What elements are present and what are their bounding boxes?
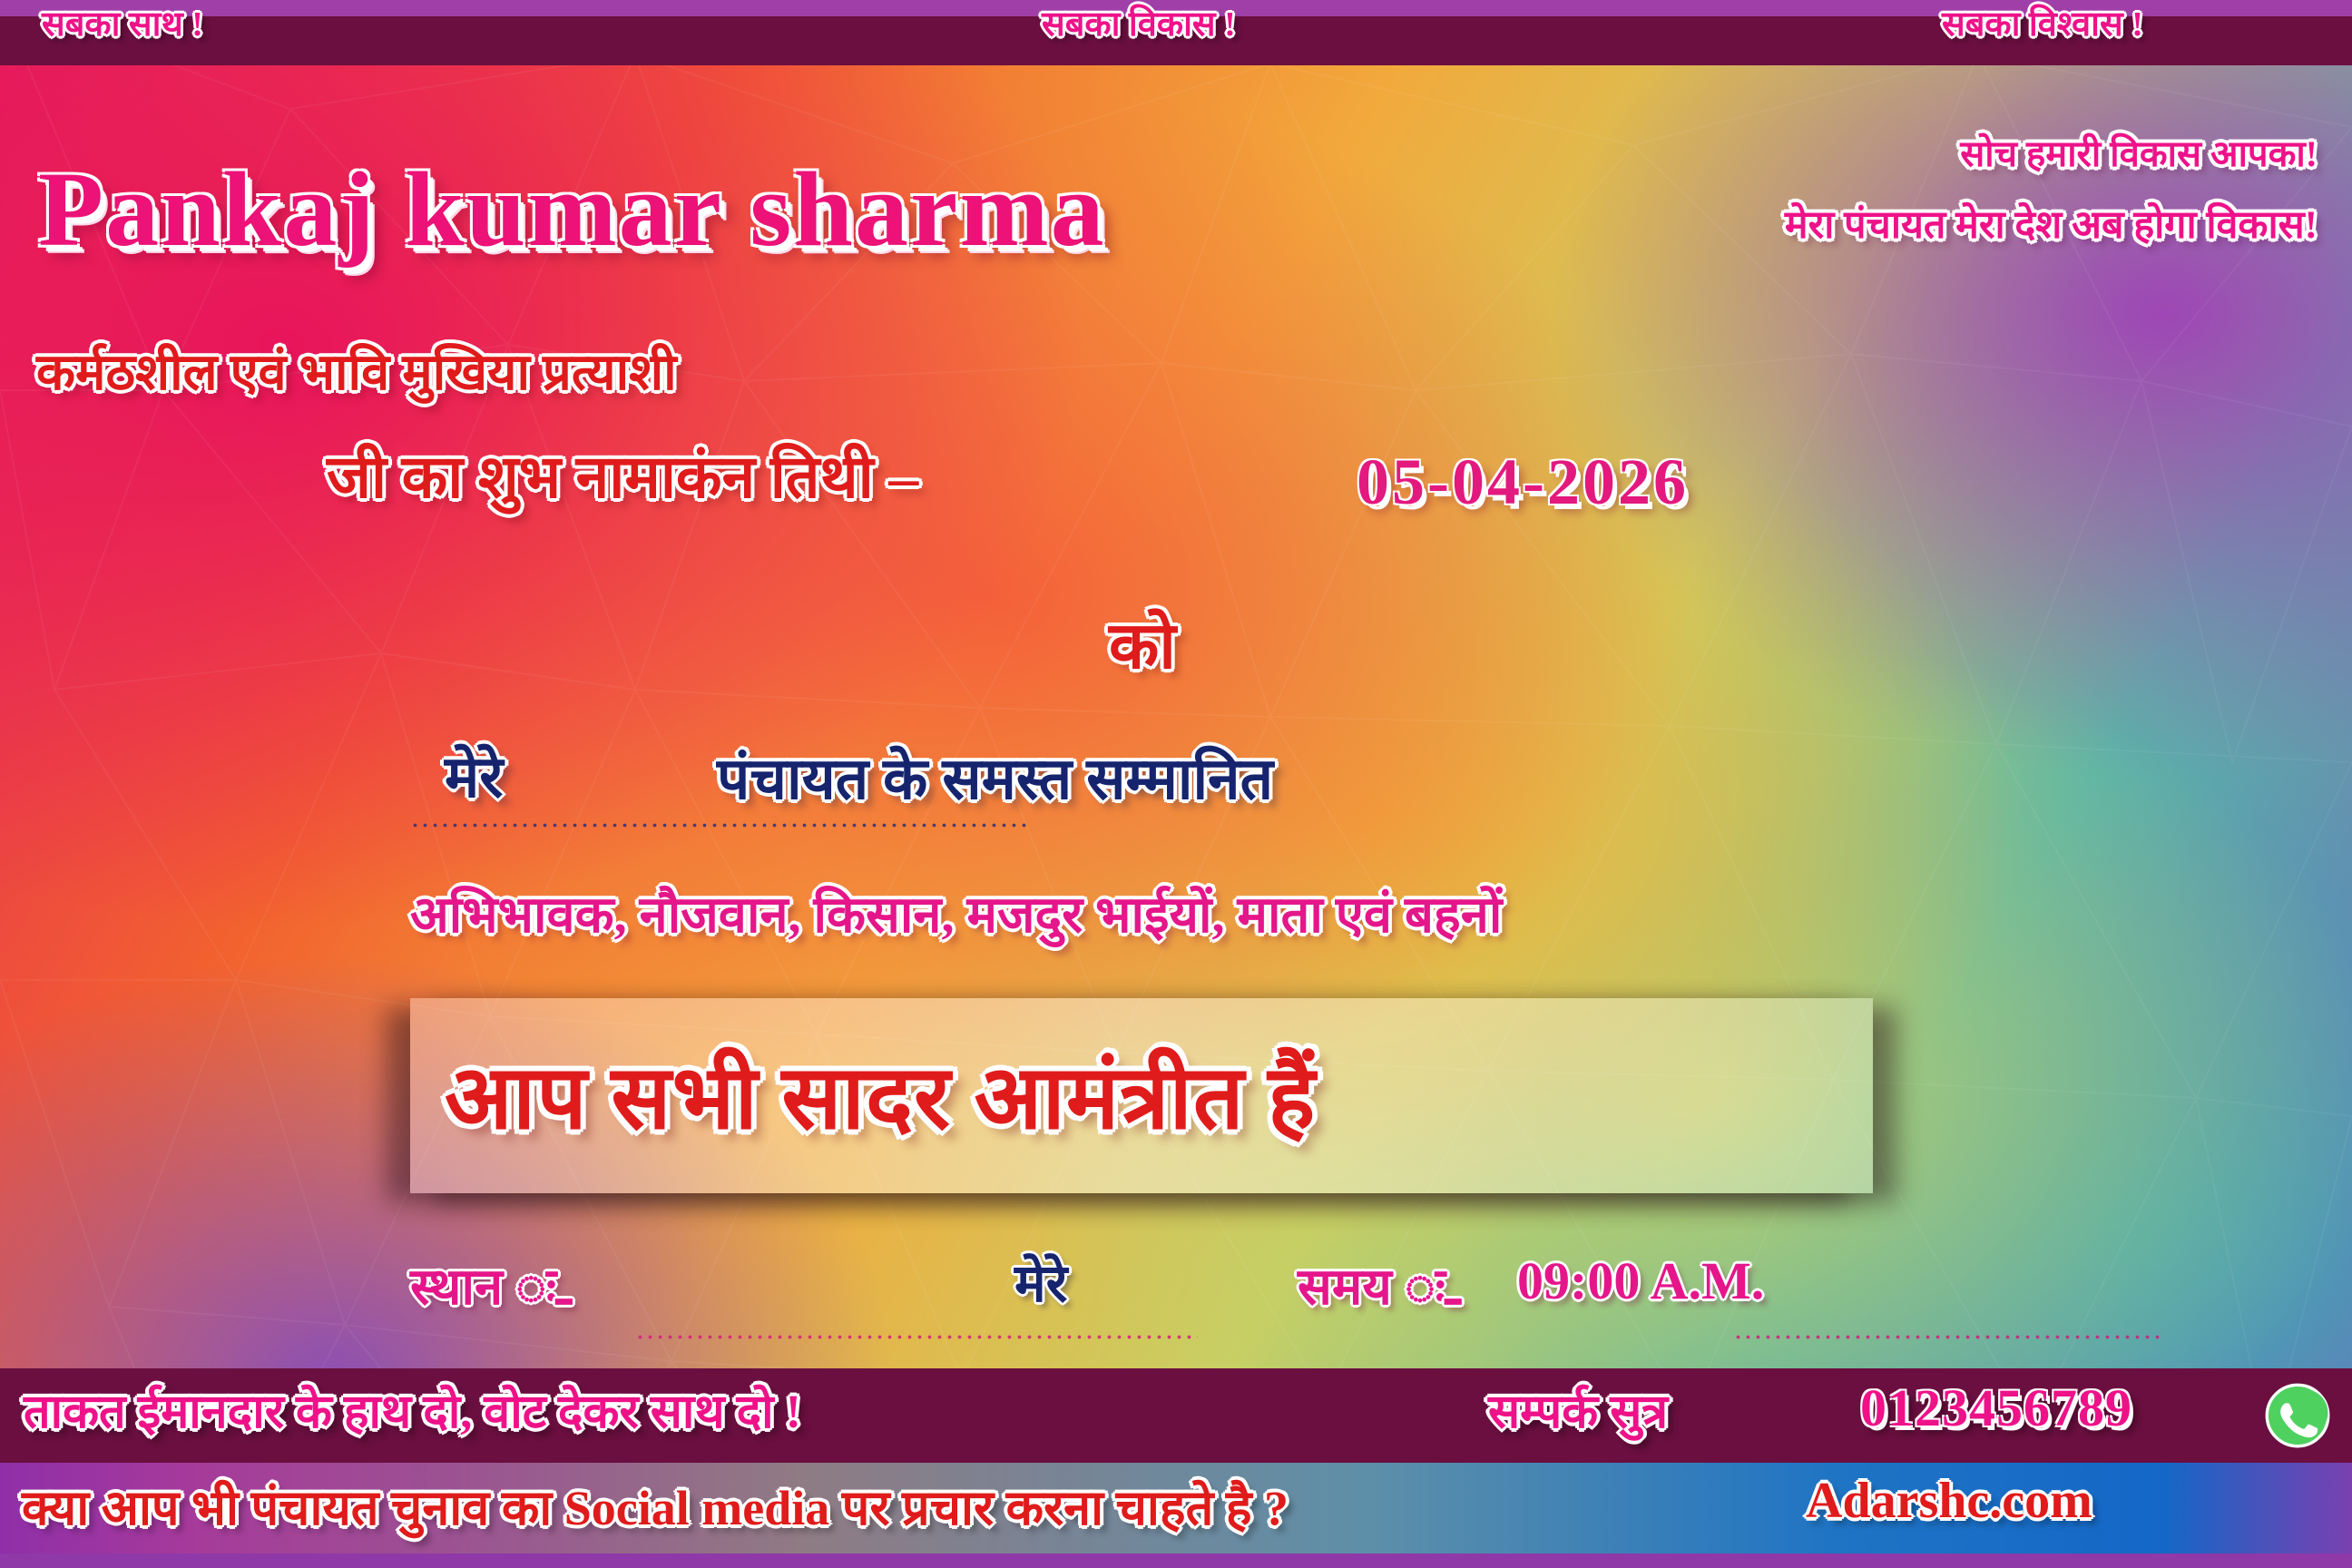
time-value: 09:00 A.M. bbox=[1517, 1250, 1764, 1311]
candidate-name: Pankaj kumar sharma bbox=[38, 156, 1106, 263]
promo-text: क्या आप भी पंचायत चुनाव का Social media … bbox=[22, 1472, 1289, 1539]
audience-line: अभिभावक, नौजवान, किसान, मजदुर भाईयों, मा… bbox=[410, 878, 1502, 947]
event-date: 05-04-2026 bbox=[1357, 445, 1689, 520]
time-label: समय ःـ bbox=[1298, 1250, 1460, 1319]
contact-phone[interactable]: 0123456789 bbox=[1860, 1377, 2132, 1438]
election-poster: सबका साथ ! सबका विकास ! सबका विश्वास ! P… bbox=[0, 0, 2352, 1568]
place-value: मेरे bbox=[1014, 1245, 1067, 1317]
candidate-subtitle: कर्मठशील एवं भावि मुखिया प्रत्याशी bbox=[36, 336, 677, 405]
slogan-sabka-saath: सबका साथ ! bbox=[42, 0, 203, 49]
contact-label: सम्पर्क सुत्र bbox=[1488, 1377, 1668, 1442]
right-slogan-line2: मेरा पंचायत मेरा देश अब होगा विकास! bbox=[1785, 196, 2318, 250]
right-slogan-line1: सोच हमारी विकास आपका! bbox=[1960, 127, 2318, 177]
ko-word: को bbox=[1109, 599, 1176, 688]
my-word-inline: मेरे bbox=[445, 735, 503, 814]
dotted-rule-place bbox=[635, 1332, 1198, 1341]
slogan-sabka-vishwas: सबका विश्वास ! bbox=[1942, 0, 2143, 49]
dotted-rule-1 bbox=[410, 820, 1027, 829]
vote-slogan: ताकत ईमानदार के हाथ दो, वोट देकर साथ दो … bbox=[24, 1377, 801, 1442]
invitation-text: आप सभी सादर आमंत्रीत हैं bbox=[445, 1033, 1316, 1154]
panchayat-line: पंचायत के समस्त सम्मानित bbox=[717, 737, 1273, 816]
promo-website[interactable]: Adarshc.com bbox=[1806, 1472, 2092, 1530]
nomination-label: जी का शुभ नामाकंन तिथी – bbox=[327, 434, 918, 515]
bottom-accent-band bbox=[0, 1553, 2352, 1568]
slogan-sabka-vikas: सबका विकास ! bbox=[1042, 0, 1236, 49]
dotted-rule-time bbox=[1733, 1332, 2160, 1341]
whatsapp-icon[interactable] bbox=[2265, 1383, 2330, 1448]
place-label: स्थान ःـ bbox=[410, 1250, 572, 1319]
